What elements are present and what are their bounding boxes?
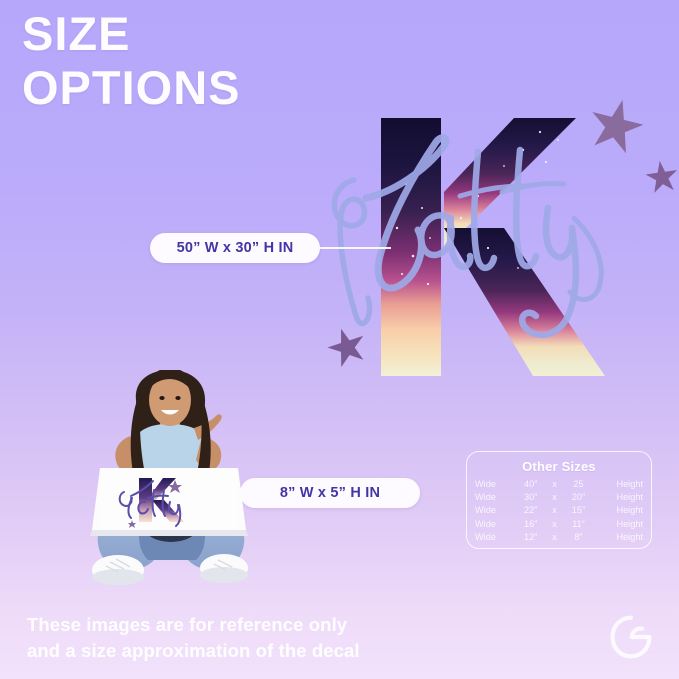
cell-width-value: 12” [516, 530, 546, 543]
size-badge-small-label: 8” W x 5” H IN [280, 485, 380, 501]
cell-width-value: 16” [516, 517, 546, 530]
cell-height-label: Height [593, 504, 643, 517]
disclaimer-text: These images are for reference only and … [27, 612, 360, 665]
cell-wide-label: Wide [475, 490, 516, 503]
other-sizes-title: Other Sizes [475, 459, 643, 474]
cell-wide-label: Wide [475, 504, 516, 517]
other-sizes-table: Wide 40” x 25 Height Wide 30” x 20” Heig… [475, 477, 643, 544]
cell-times: x [546, 517, 564, 530]
cell-times: x [546, 477, 564, 490]
size-badge-large[interactable]: 50” W x 30” H IN [150, 233, 320, 263]
table-row: Wide 22” x 15” Height [475, 504, 643, 517]
size-badge-small[interactable]: 8” W x 5” H IN [240, 478, 420, 508]
cell-wide-label: Wide [475, 477, 516, 490]
cell-height-label: Height [593, 490, 643, 503]
cell-times: x [546, 490, 564, 503]
decal-preview-large [318, 88, 668, 393]
page-title-line-2: OPTIONS [22, 64, 241, 112]
connector-line-large [313, 247, 391, 249]
cell-height-value: 20” [563, 490, 593, 503]
cell-width-value: 40” [516, 477, 546, 490]
page-title: SIZE OPTIONS [22, 10, 241, 112]
cell-times: x [546, 530, 564, 543]
page-title-line-1: SIZE [22, 10, 241, 58]
cell-height-label: Height [593, 517, 643, 530]
disclaimer-line-1: These images are for reference only [27, 612, 360, 638]
cell-height-label: Height [593, 530, 643, 543]
model-photo-with-laptop [78, 370, 264, 592]
cell-height-value: 15” [563, 504, 593, 517]
table-row: Wide 16” x 11” Height [475, 517, 643, 530]
size-badge-large-label: 50” W x 30” H IN [177, 240, 294, 256]
listing-image-canvas: SIZE OPTIONS [0, 0, 679, 679]
g-logo-icon [608, 612, 654, 662]
cell-height-value: 11” [563, 517, 593, 530]
cell-width-value: 22” [516, 504, 546, 517]
other-sizes-box: Other Sizes Wide 40” x 25 Height Wide 30… [466, 451, 652, 549]
cell-height-label: Height [593, 477, 643, 490]
cell-height-value: 25 [563, 477, 593, 490]
cell-height-value: 8” [563, 530, 593, 543]
table-row: Wide 12” x 8” Height [475, 530, 643, 543]
cell-width-value: 30” [516, 490, 546, 503]
table-row: Wide 40” x 25 Height [475, 477, 643, 490]
table-row: Wide 30” x 20” Height [475, 490, 643, 503]
cell-wide-label: Wide [475, 517, 516, 530]
cell-times: x [546, 504, 564, 517]
cell-wide-label: Wide [475, 530, 516, 543]
disclaimer-line-2: and a size approximation of the decal [27, 638, 360, 664]
